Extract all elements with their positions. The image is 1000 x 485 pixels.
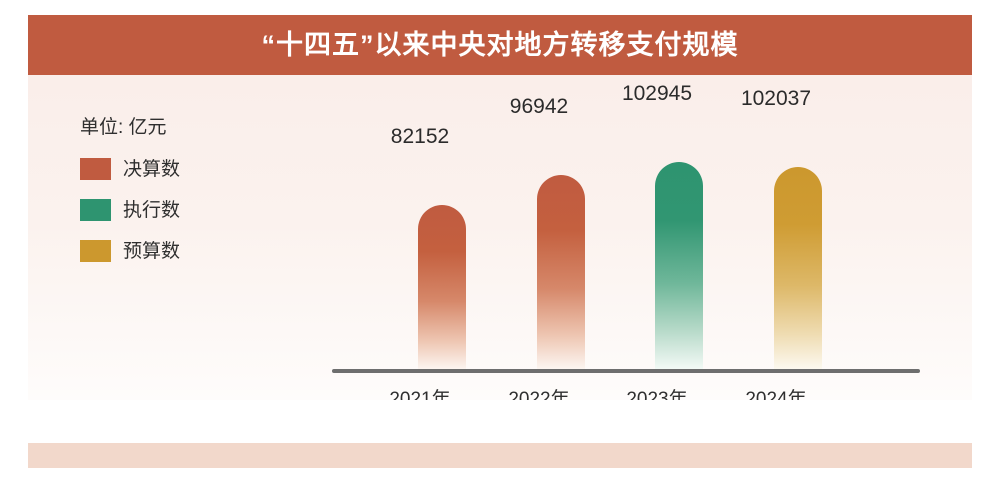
page-title: “十四五”以来中央对地方转移支付规模 [262,32,739,59]
chart-panel: 单位: 亿元 决算数 执行数 预算数 82152 2021年 96942 [28,75,972,400]
x-axis-line [332,369,920,373]
category-label-2024: 2024年 [696,390,856,400]
bar-2024 [774,167,822,371]
bar-value-label: 82152 [340,126,500,147]
bar-2021 [418,205,466,371]
bar-2023 [655,162,703,371]
plot-area: 82152 2021年 96942 2022年 102945 2023年 102… [28,75,972,400]
infographic-root: “十四五”以来中央对地方转移支付规模 单位: 亿元 决算数 执行数 预算数 82… [0,0,1000,485]
bar-value-label: 102037 [696,88,856,109]
bar-2022 [537,175,585,371]
chart-title-band: “十四五”以来中央对地方转移支付规模 [28,15,972,75]
footer-band [28,443,972,468]
